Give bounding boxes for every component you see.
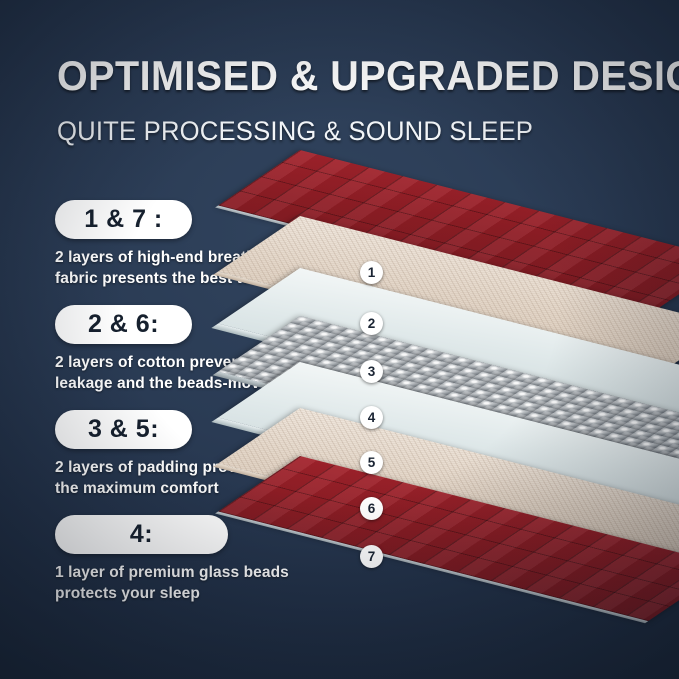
layer-badge-4: 4 bbox=[360, 406, 383, 429]
callout-label-3-and-5: 3 & 5: bbox=[55, 410, 192, 449]
layer-badge-2: 2 bbox=[360, 312, 383, 335]
callout-4: 4: 1 layer of premium glass beads protec… bbox=[55, 515, 289, 604]
page-subtitle: QUITE PROCESSING & SOUND SLEEP bbox=[57, 118, 533, 145]
callout-label-1-and-7: 1 & 7 : bbox=[55, 200, 192, 239]
page-title: OPTIMISED & UPGRADED DESIGN bbox=[57, 55, 679, 97]
callout-label-4: 4: bbox=[55, 515, 228, 554]
layer-stack-diagram: 1 2 3 4 5 6 7 bbox=[300, 150, 679, 650]
layer-7-fabric bbox=[300, 456, 679, 588]
layer-badge-7: 7 bbox=[360, 545, 383, 568]
product-infographic: OPTIMISED & UPGRADED DESIGN QUITE PROCES… bbox=[0, 0, 679, 679]
layer-badge-6: 6 bbox=[360, 497, 383, 520]
callout-description-4: 1 layer of premium glass beads protects … bbox=[55, 563, 289, 604]
callout-label-2-and-6: 2 & 6: bbox=[55, 305, 192, 344]
layer-badge-3: 3 bbox=[360, 360, 383, 383]
layer-badge-5: 5 bbox=[360, 451, 383, 474]
layer-badge-1: 1 bbox=[360, 261, 383, 284]
